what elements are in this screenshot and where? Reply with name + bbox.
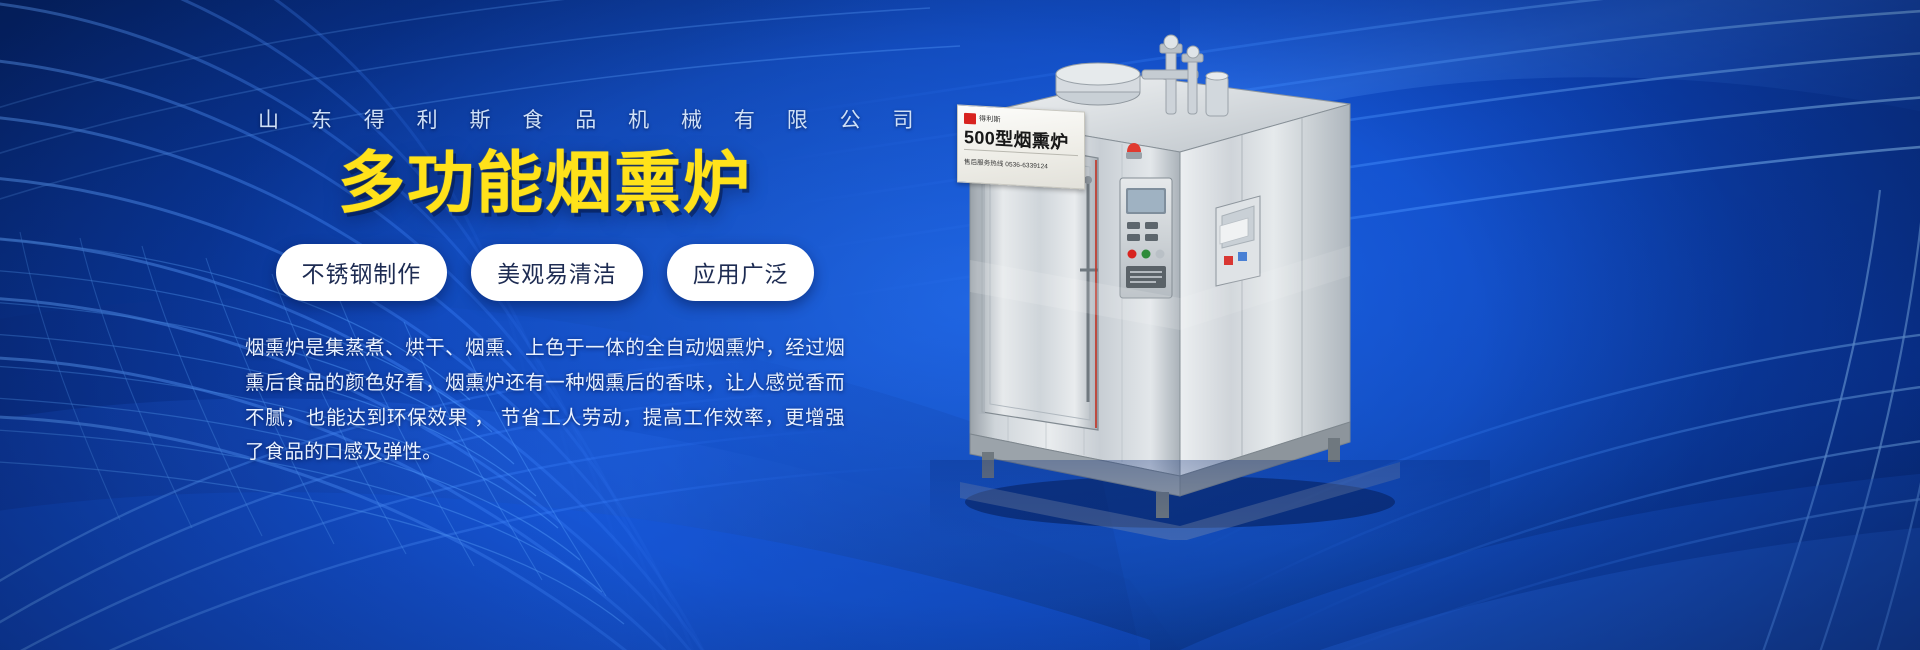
- page-title: 多功能烟熏炉: [245, 148, 845, 220]
- machine-nameplate: 得利斯 500型烟熏炉 售后服务热线 0536-6339124: [957, 104, 1085, 189]
- feature-pill-stainless-steel[interactable]: 不锈钢制作: [276, 244, 448, 301]
- company-name: 山 东 得 利 斯 食 品 机 械 有 限 公 司: [245, 104, 845, 134]
- nameplate-hotline-text: 售后服务热线 0536-6339124: [964, 156, 1078, 172]
- brand-mark-icon: [964, 112, 976, 124]
- brand-name-text: 得利斯: [979, 114, 1001, 125]
- product-description: 烟熏炉是集蒸煮、烘干、烟熏、上色于一体的全自动烟熏炉，经过烟熏后食品的颜色好看，…: [245, 331, 845, 470]
- feature-pill-easy-clean[interactable]: 美观易清洁: [471, 244, 643, 301]
- product-photo-smokehouse-oven: 得利斯 500型烟熏炉 售后服务热线 0536-6339124: [930, 30, 1490, 540]
- promotional-banner: 得利斯 500型烟熏炉 售后服务热线 0536-6339124 山 东 得 利 …: [0, 0, 1920, 650]
- feature-pill-wide-application[interactable]: 应用广泛: [667, 244, 815, 301]
- banner-text-block: 山 东 得 利 斯 食 品 机 械 有 限 公 司 多功能烟熏炉 不锈钢制作 美…: [245, 104, 845, 470]
- nameplate-model-text: 500型烟熏炉: [964, 128, 1078, 152]
- feature-pill-list: 不锈钢制作 美观易清洁 应用广泛: [245, 244, 845, 301]
